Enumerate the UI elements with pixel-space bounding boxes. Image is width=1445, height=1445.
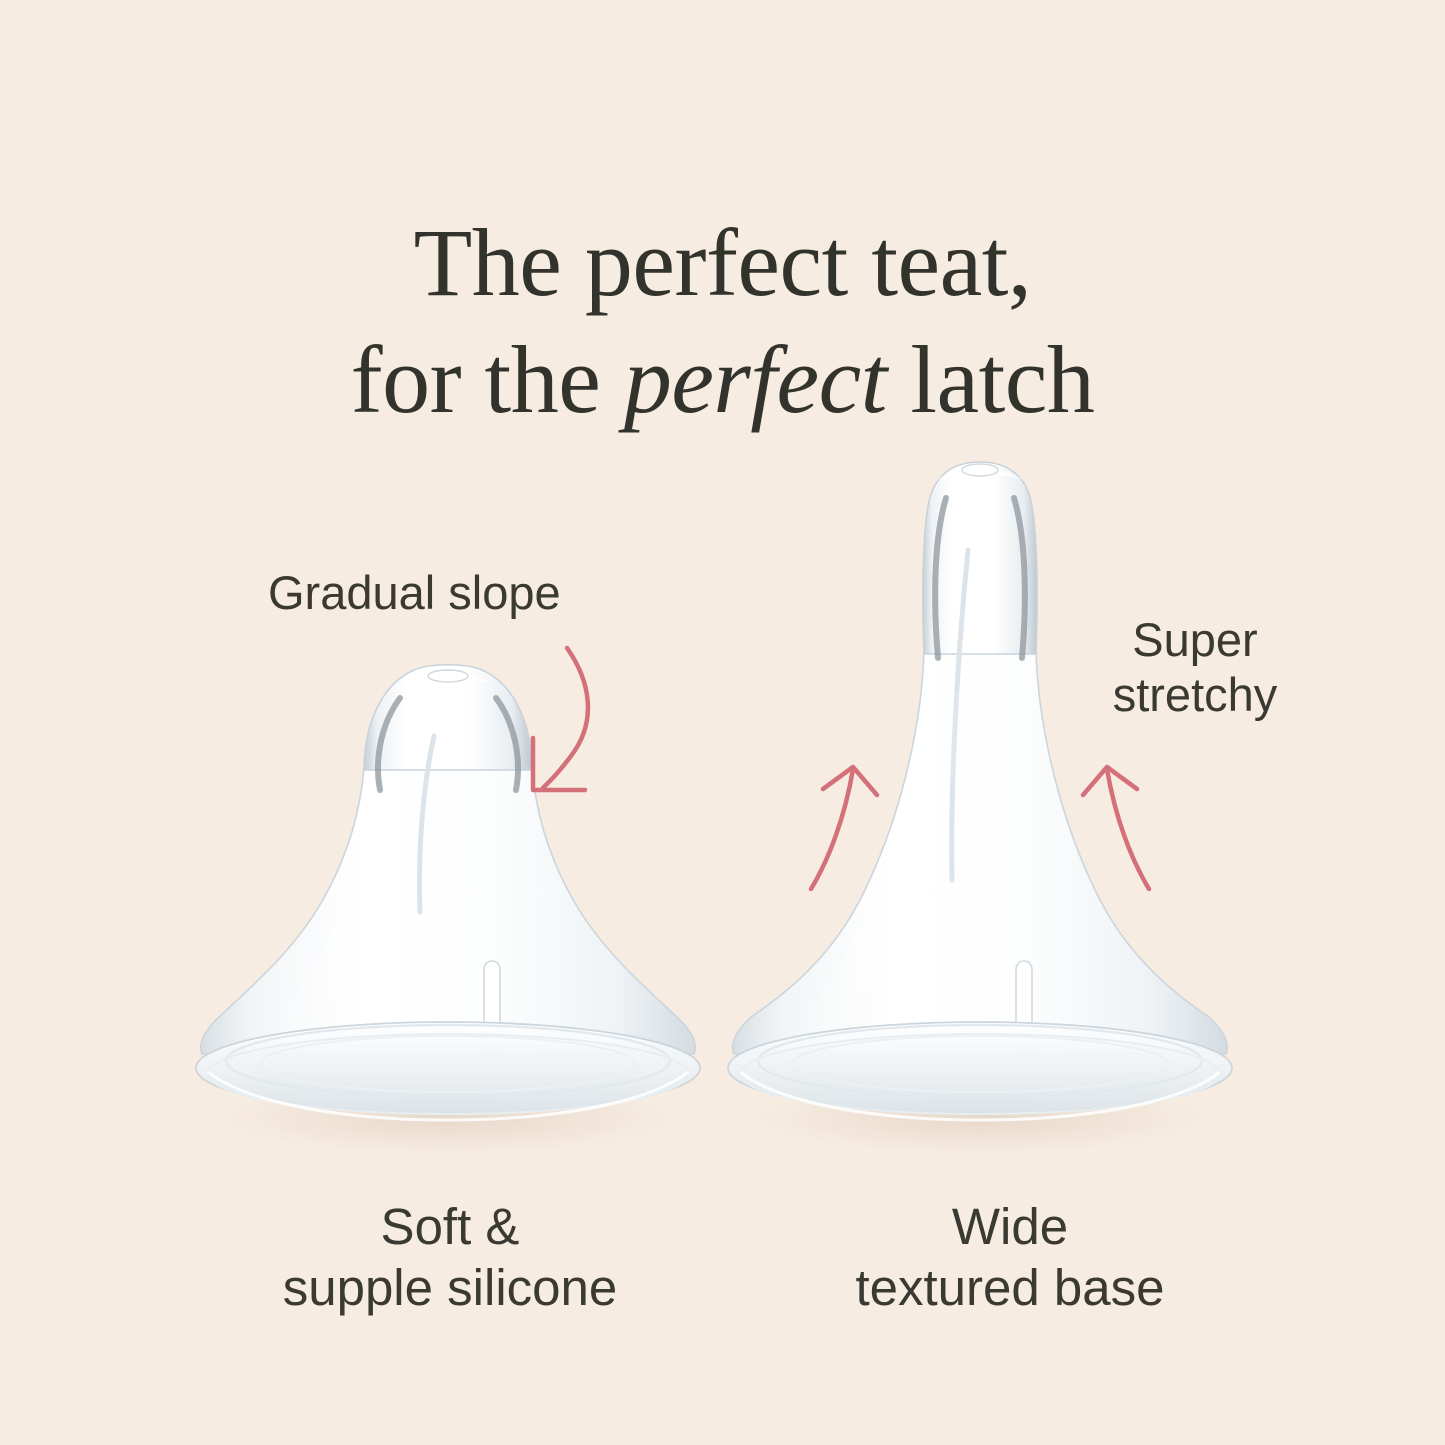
teat-body (201, 768, 695, 1054)
annotation-gradual-slope: Gradual slope (268, 565, 561, 620)
curved-arrow-down-left-icon (505, 630, 625, 800)
baby-bottle-teat-stretched-image (700, 440, 1260, 1160)
page-title: The perfect teat, for the perfect latch (0, 204, 1445, 438)
headline-line-2: for the perfect latch (0, 321, 1445, 438)
caption-wide-textured-base: Wide textured base (720, 1196, 1300, 1318)
headline-line-2-before: for the (351, 326, 624, 433)
headline-line-1: The perfect teat, (0, 204, 1445, 321)
curved-arrow-up-left-icon (1035, 745, 1165, 905)
baby-bottle-teat-relaxed-image (168, 640, 728, 1160)
annotation-super-stretchy: Super stretchy (1080, 612, 1310, 723)
teat-nipple (923, 462, 1037, 654)
caption-soft-supple-silicone: Soft & supple silicone (160, 1196, 740, 1318)
headline-emphasis-perfect: perfect (624, 326, 887, 433)
promo-graphic: The perfect teat, for the perfect latch (0, 0, 1445, 1445)
curved-arrow-up-right-icon (795, 745, 925, 905)
headline-line-2-after: latch (887, 326, 1095, 433)
